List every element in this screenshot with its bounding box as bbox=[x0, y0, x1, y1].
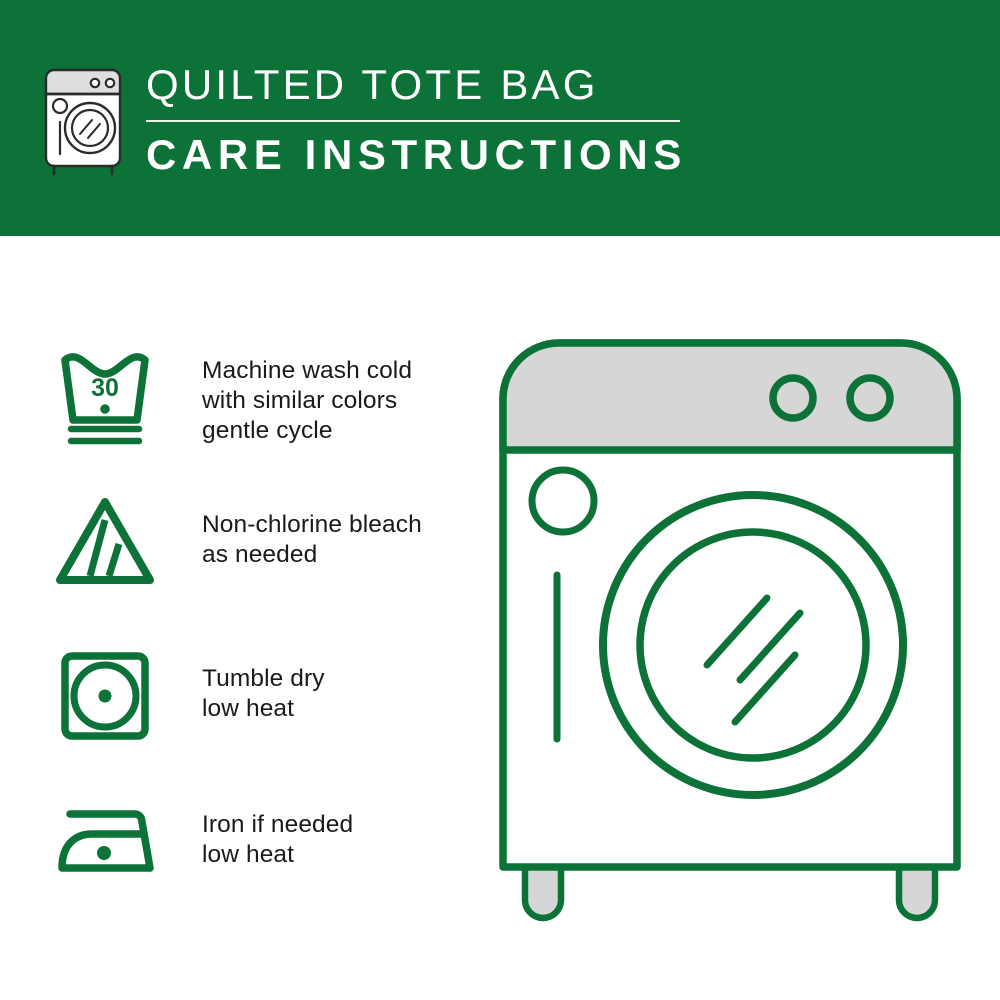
care-item-text: Non-chlorine bleach as needed bbox=[202, 488, 422, 570]
header-banner: QUILTED TOTE BAG CARE INSTRUCTIONS bbox=[0, 0, 1000, 236]
care-text-line: Non-chlorine bleach bbox=[202, 510, 422, 540]
care-text-line: low heat bbox=[202, 694, 325, 724]
care-text-line: low heat bbox=[202, 840, 353, 870]
care-item-text: Tumble dry low heat bbox=[202, 642, 325, 724]
wash-tub-30-icon: 30 bbox=[46, 342, 164, 446]
title-divider bbox=[146, 120, 680, 122]
leg-right bbox=[899, 863, 935, 918]
care-text-line: Machine wash cold bbox=[202, 356, 412, 386]
care-item-machine-wash: 30 Machine wash cold with similar colors… bbox=[46, 342, 476, 446]
front-load-washing-machine-illustration bbox=[495, 335, 965, 930]
page-subtitle: CARE INSTRUCTIONS bbox=[146, 128, 746, 182]
iron-low-heat-icon bbox=[46, 788, 164, 892]
care-text-line: Iron if needed bbox=[202, 810, 353, 840]
care-text-line: gentle cycle bbox=[202, 416, 412, 446]
care-text-line: as needed bbox=[202, 540, 422, 570]
care-item-text: Machine wash cold with similar colors ge… bbox=[202, 342, 412, 446]
care-item-tumble-dry: Tumble dry low heat bbox=[46, 642, 476, 746]
care-item-iron: Iron if needed low heat bbox=[46, 788, 476, 892]
header-title-group: QUILTED TOTE BAG CARE INSTRUCTIONS bbox=[146, 58, 746, 182]
care-item-text: Iron if needed low heat bbox=[202, 788, 353, 870]
leg-left bbox=[525, 863, 561, 918]
washing-machine-icon bbox=[40, 62, 136, 178]
wash-temperature-label: 30 bbox=[91, 374, 119, 402]
care-instructions-poster: QUILTED TOTE BAG CARE INSTRUCTIONS 30 bbox=[0, 0, 1000, 1000]
non-chlorine-bleach-triangle-icon bbox=[46, 488, 164, 592]
care-item-bleach: Non-chlorine bleach as needed bbox=[46, 488, 476, 592]
tumble-dry-low-heat-icon bbox=[46, 642, 164, 746]
care-text-line: Tumble dry bbox=[202, 664, 325, 694]
care-text-line: with similar colors bbox=[202, 386, 412, 416]
page-title: QUILTED TOTE BAG bbox=[146, 58, 746, 112]
